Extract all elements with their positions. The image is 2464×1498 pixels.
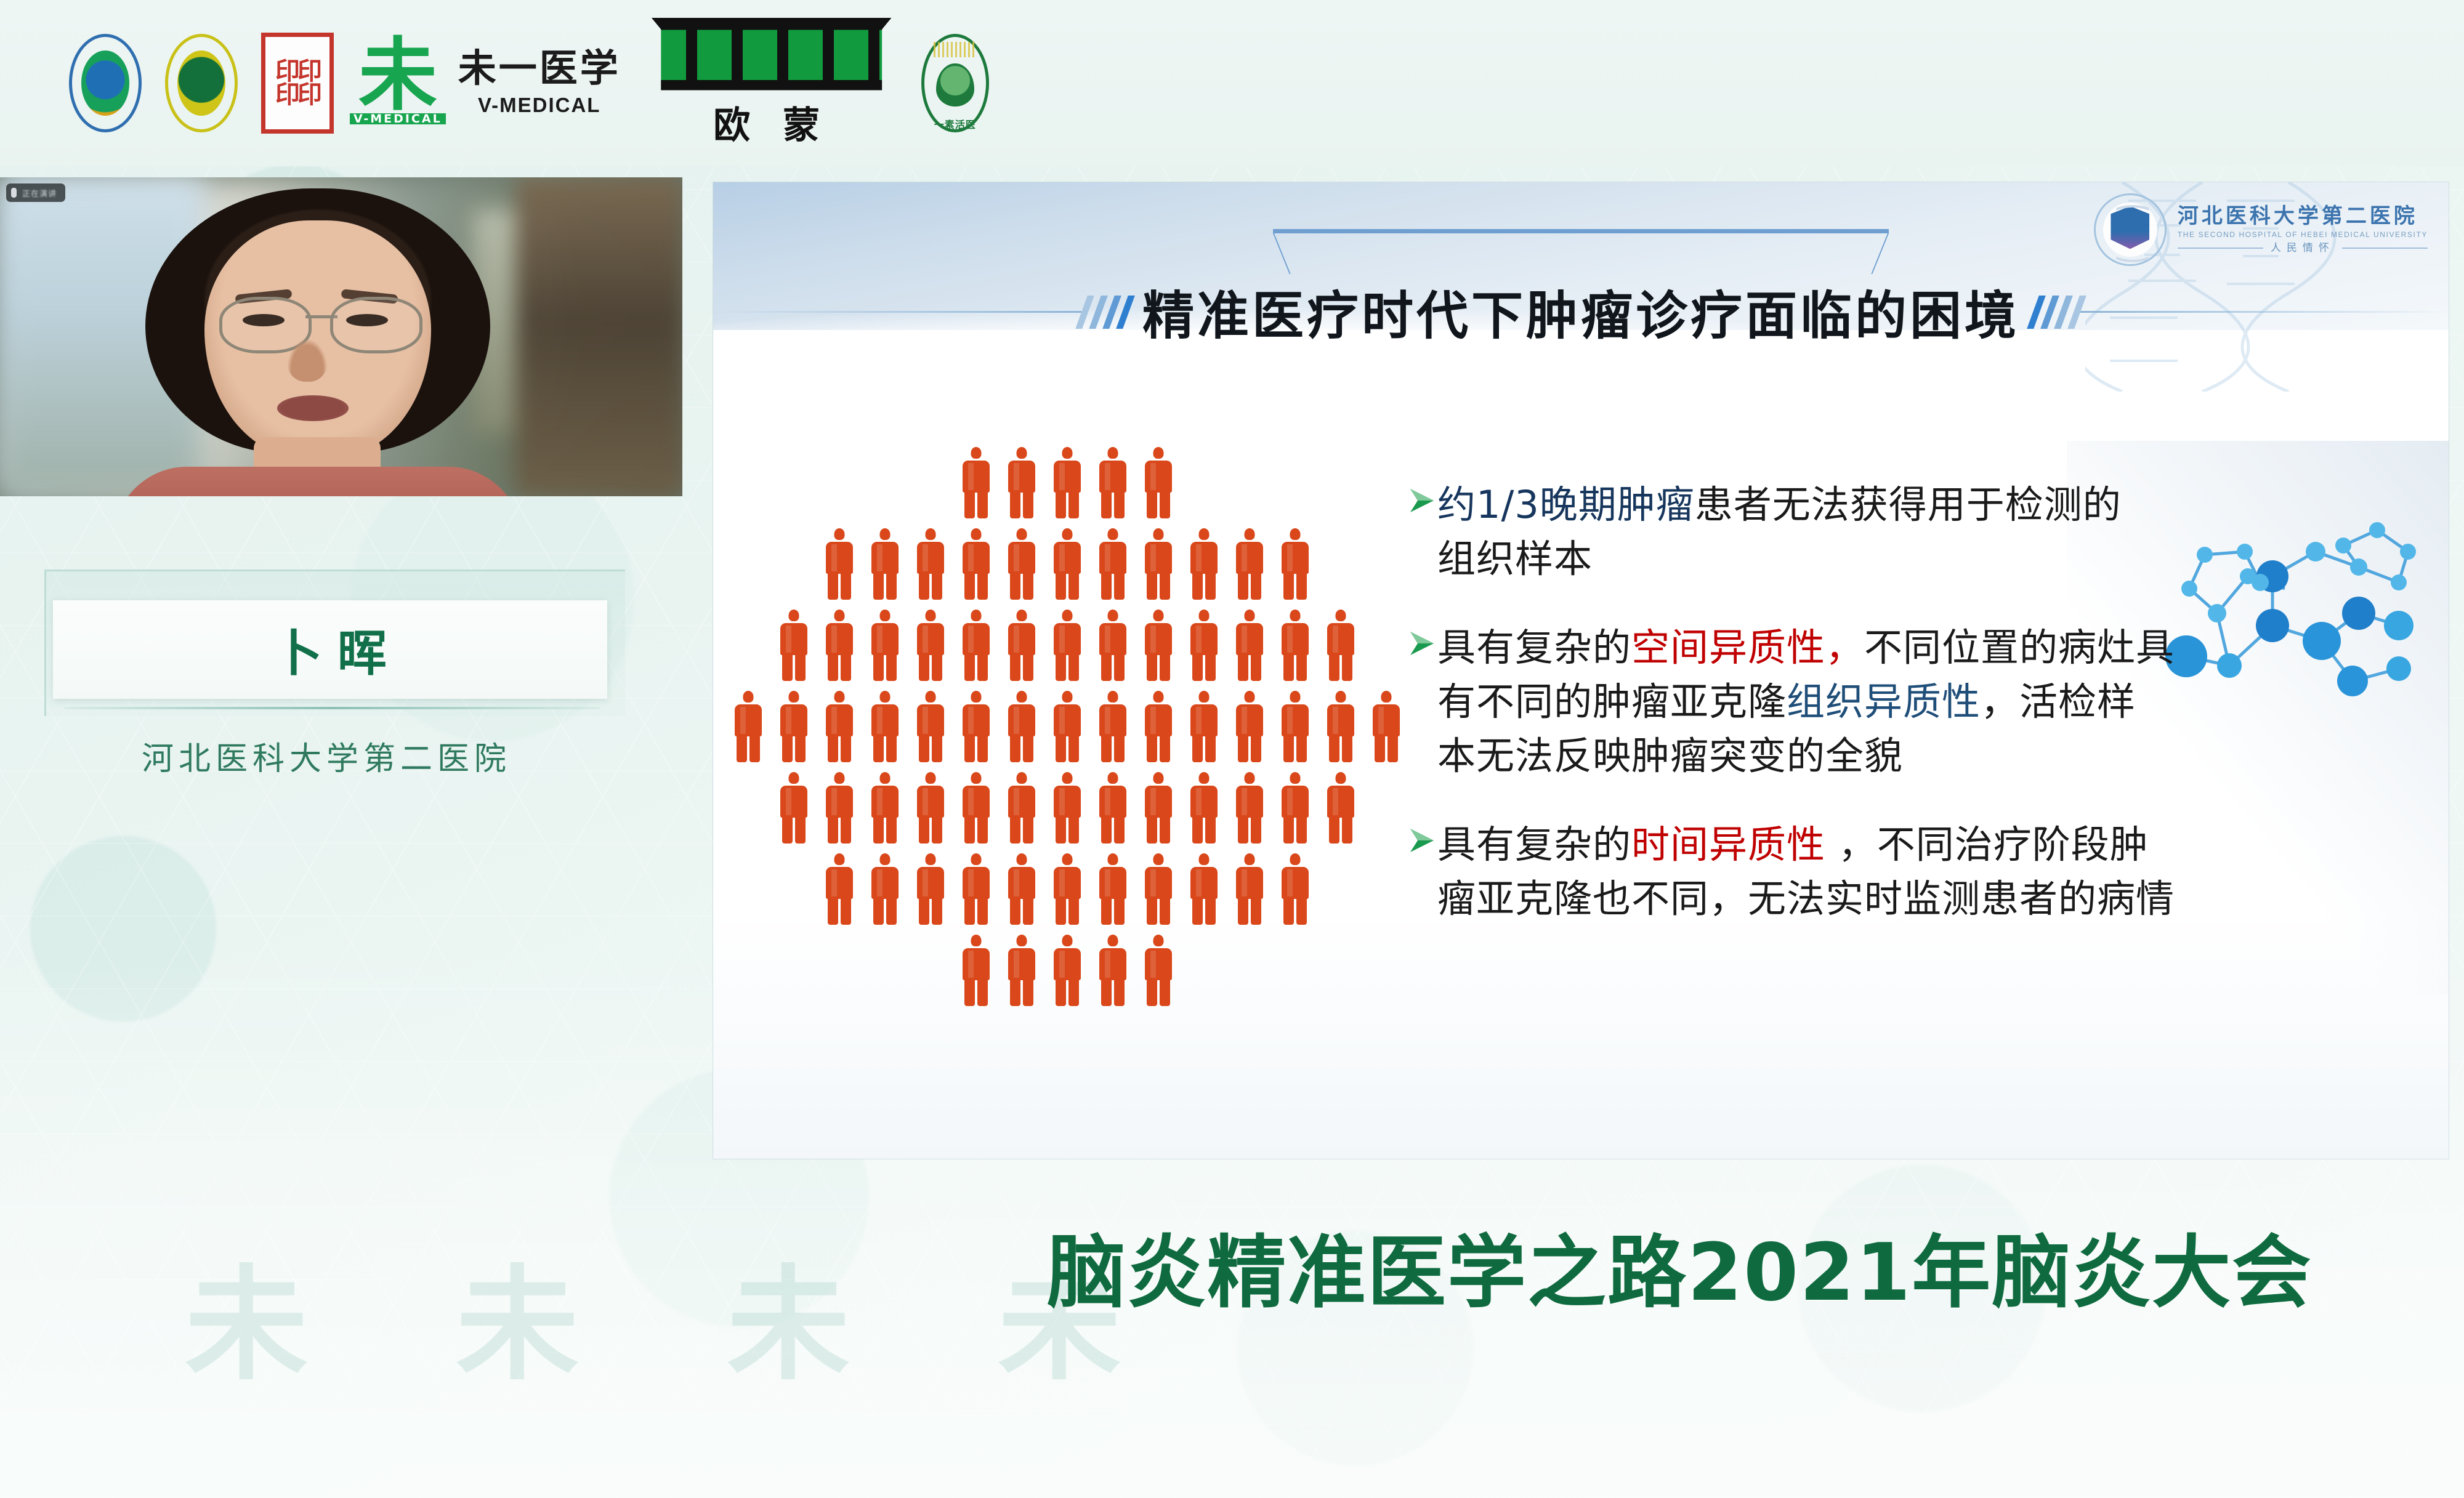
bullet-segment: 不同位置的病灶具 bbox=[1864, 625, 2175, 670]
bullet-line: 约1/3晚期肿瘤患者无法获得用于检测的 bbox=[1437, 478, 2122, 532]
person-icon bbox=[1099, 447, 1126, 518]
person-icon bbox=[963, 610, 990, 681]
gate-roof-icon bbox=[652, 18, 892, 91]
person-icon bbox=[871, 772, 899, 844]
speaker-portrait bbox=[145, 188, 490, 496]
title-rule-left bbox=[713, 311, 1081, 313]
pictogram-row bbox=[732, 853, 1403, 925]
bullet-segment: 瘤亚克隆也不同，无法实时监测患者的病情 bbox=[1437, 876, 2175, 921]
slide-title-row: 精准医疗时代下肿瘤诊疗面临的困境 bbox=[713, 275, 2449, 349]
bullet-item: 具有复杂的时间异质性 ，不同治疗阶段肿瘤亚克隆也不同，无法实时监测患者的病情 bbox=[1409, 818, 2431, 926]
person-icon bbox=[963, 447, 990, 518]
person-icon bbox=[1099, 772, 1126, 844]
nose bbox=[287, 339, 328, 382]
conference-banner: 脑炎精准医学之路2021年脑炎大会 bbox=[1047, 1204, 2457, 1327]
vmedical-en-label: V-MEDICAL bbox=[458, 94, 621, 117]
bullet-segment: 患者无法获得用于检测的 bbox=[1695, 482, 2122, 527]
logo-vmedical: 未 V-MEDICAL 未一医学 V-MEDICAL bbox=[350, 42, 621, 124]
person-icon bbox=[1054, 772, 1081, 844]
hospital-tagline: 人民情怀 bbox=[2271, 243, 2335, 254]
bullet-segment: ，不同治疗阶段肿 bbox=[1825, 822, 2149, 867]
person-icon bbox=[1145, 447, 1172, 518]
person-icon bbox=[826, 610, 853, 681]
speaker-video-panel[interactable]: 正在演讲 bbox=[0, 177, 682, 496]
person-icon bbox=[1099, 610, 1126, 681]
hospital-name-en: THE SECOND HOSPITAL OF HEBEI MEDICAL UNI… bbox=[2178, 231, 2428, 239]
hospital-tagline-row: 人民情怀 bbox=[2178, 243, 2428, 254]
bullet-line: 本无法反映肿瘤突变的全貌 bbox=[1437, 729, 2175, 783]
person-icon bbox=[780, 772, 807, 844]
person-icon bbox=[871, 528, 899, 600]
microphone-icon bbox=[11, 188, 17, 198]
title-rule-right bbox=[2080, 311, 2449, 313]
bullet-line: 具有复杂的空间异质性，不同位置的病灶具 bbox=[1437, 621, 2175, 675]
bullet-text: 具有复杂的时间异质性 ，不同治疗阶段肿瘤亚克隆也不同，无法实时监测患者的病情 bbox=[1437, 818, 2175, 926]
person-icon bbox=[1008, 772, 1035, 844]
title-slashes-right bbox=[2033, 296, 2080, 329]
circular-seal-icon bbox=[69, 34, 142, 132]
bullet-segment: 时间异质性 bbox=[1631, 822, 1825, 867]
person-icon bbox=[963, 772, 990, 844]
person-icon bbox=[1054, 447, 1081, 518]
logo-red-square-seal: 印印印印 bbox=[261, 33, 334, 134]
pictogram-row bbox=[732, 935, 1403, 1006]
person-icon bbox=[1054, 610, 1081, 681]
person-icon bbox=[963, 853, 990, 925]
slide-title: 精准医疗时代下肿瘤诊疗面临的困境 bbox=[1142, 275, 2019, 349]
logo-medical-association-seal bbox=[165, 34, 238, 132]
bullet-item: 约1/3晚期肿瘤患者无法获得用于检测的组织样本 bbox=[1409, 478, 2431, 586]
bullet-line: 瘤亚克隆也不同，无法实时监测患者的病情 bbox=[1437, 872, 2175, 926]
leaf-icon bbox=[936, 63, 974, 107]
person-icon bbox=[1236, 772, 1263, 844]
mouth bbox=[277, 395, 349, 421]
person-icon bbox=[826, 853, 853, 925]
person-icon bbox=[871, 691, 899, 762]
oumeng-label: 欧 蒙 bbox=[652, 95, 892, 149]
person-icon bbox=[1327, 691, 1354, 762]
name-card-underline bbox=[64, 707, 600, 709]
glasses-icon bbox=[219, 297, 422, 348]
person-icon bbox=[1327, 610, 1354, 681]
video-status-badge: 正在演讲 bbox=[6, 183, 65, 202]
bullet-segment: 约1/3晚期肿瘤 bbox=[1437, 482, 1695, 527]
person-icon bbox=[1190, 772, 1218, 844]
person-icon bbox=[1145, 935, 1172, 1006]
person-icon bbox=[1099, 691, 1126, 762]
person-icon bbox=[917, 853, 944, 925]
person-icon bbox=[1145, 528, 1172, 600]
person-icon bbox=[871, 853, 899, 925]
hospital-logo: 河北医科大学第二医院 THE SECOND HOSPITAL OF HEBEI … bbox=[2094, 193, 2428, 266]
wei-glyph-icon: 未 V-MEDICAL bbox=[350, 42, 446, 124]
title-bracket-decoration bbox=[1273, 229, 1889, 272]
bullet-line: 有不同的肿瘤亚克隆组织异质性，活检样 bbox=[1437, 675, 2175, 729]
person-icon bbox=[963, 935, 990, 1006]
person-icon bbox=[1054, 691, 1081, 762]
video-status-label: 正在演讲 bbox=[22, 187, 57, 199]
person-icon bbox=[1190, 853, 1218, 925]
bullet-line: 具有复杂的时间异质性 ，不同治疗阶段肿 bbox=[1437, 818, 2175, 872]
speaker-affiliation: 河北医科大学第二医院 bbox=[0, 733, 653, 779]
chevron-right-icon bbox=[1409, 818, 1437, 926]
chevron-right-icon bbox=[1409, 478, 1437, 586]
bullet-segment: 具有复杂的 bbox=[1437, 822, 1631, 867]
person-icon bbox=[735, 691, 762, 762]
circular-seal-icon bbox=[165, 34, 238, 132]
bullet-line: 组织样本 bbox=[1437, 532, 2122, 586]
title-slashes-left bbox=[1081, 296, 1129, 329]
speaker-name-card: 卜晖 bbox=[53, 600, 607, 699]
person-icon bbox=[780, 610, 807, 681]
person-icon bbox=[1327, 772, 1354, 844]
bullet-item: 具有复杂的空间异质性，不同位置的病灶具有不同的肿瘤亚克隆组织异质性，活检样本无法… bbox=[1409, 621, 2431, 783]
bullet-segment: 空间异质性， bbox=[1631, 625, 1864, 670]
speaker-name: 卜晖 bbox=[259, 614, 402, 685]
pictogram-row bbox=[732, 528, 1403, 600]
bullet-text: 具有复杂的空间异质性，不同位置的病灶具有不同的肿瘤亚克隆组织异质性，活检样本无法… bbox=[1437, 621, 2175, 783]
video-background-cabinet bbox=[516, 177, 682, 496]
person-icon bbox=[1008, 528, 1035, 600]
red-seal-icon: 印印印印 bbox=[261, 33, 334, 134]
bullet-segment: 具有复杂的 bbox=[1437, 625, 1631, 670]
page-root: 未 未 未 未 印印印印 未 V-MEDICAL 未一医学 V-MEDICAL bbox=[0, 0, 2464, 1498]
person-icon bbox=[963, 691, 990, 762]
person-icon bbox=[1008, 935, 1035, 1006]
person-icon bbox=[1236, 853, 1263, 925]
person-icon bbox=[917, 691, 944, 762]
person-icon bbox=[1145, 691, 1172, 762]
person-icon bbox=[1099, 853, 1126, 925]
person-icon bbox=[1236, 610, 1263, 681]
person-icon bbox=[1008, 610, 1035, 681]
person-icon bbox=[1282, 528, 1309, 600]
yiwei-label: 一素活医 bbox=[921, 116, 989, 131]
bullet-segment: 本无法反映肿瘤突变的全貌 bbox=[1437, 733, 1903, 778]
person-icon bbox=[1054, 853, 1081, 925]
person-icon bbox=[1099, 528, 1126, 600]
slide-bullet-list: 约1/3晚期肿瘤患者无法获得用于检测的组织样本具有复杂的空间异质性，不同位置的病… bbox=[1409, 478, 2431, 960]
pictogram-row bbox=[732, 772, 1403, 844]
bullet-text: 约1/3晚期肿瘤患者无法获得用于检测的组织样本 bbox=[1437, 478, 2122, 586]
person-icon bbox=[1190, 691, 1218, 762]
person-icon bbox=[1282, 772, 1309, 844]
logo-national-health-seal bbox=[69, 34, 142, 132]
person-icon bbox=[917, 610, 944, 681]
pictogram-row bbox=[732, 447, 1403, 518]
logo-oumeng: 欧 蒙 bbox=[652, 18, 892, 149]
people-pictogram bbox=[732, 447, 1403, 1069]
header-logo-strip: 印印印印 未 V-MEDICAL 未一医学 V-MEDICAL 欧 蒙 一素活医 bbox=[0, 0, 2464, 166]
person-icon bbox=[826, 772, 853, 844]
person-icon bbox=[1008, 447, 1035, 518]
person-icon bbox=[1099, 935, 1126, 1006]
pictogram-row bbox=[732, 691, 1403, 762]
person-icon bbox=[963, 528, 990, 600]
person-icon bbox=[826, 528, 853, 600]
logo-yiwei-leaf-seal: 一素活医 bbox=[921, 34, 989, 132]
person-icon bbox=[917, 772, 944, 844]
person-icon bbox=[1373, 691, 1400, 762]
person-icon bbox=[1282, 853, 1309, 925]
person-icon bbox=[1054, 935, 1081, 1006]
person-icon bbox=[1054, 528, 1081, 600]
person-icon bbox=[1008, 691, 1035, 762]
person-icon bbox=[1190, 528, 1218, 600]
person-icon bbox=[1236, 528, 1263, 600]
bullet-segment: ，活检样 bbox=[1981, 679, 2136, 724]
person-icon bbox=[917, 528, 944, 600]
bullet-segment: 组织样本 bbox=[1437, 536, 1593, 581]
pictogram-row bbox=[732, 610, 1403, 681]
person-icon bbox=[1190, 610, 1218, 681]
vmedical-cn-label: 未一医学 bbox=[458, 49, 621, 87]
presentation-slide[interactable]: 河北医科大学第二医院 THE SECOND HOSPITAL OF HEBEI … bbox=[713, 182, 2449, 1159]
hospital-name-cn: 河北医科大学第二医院 bbox=[2178, 205, 2428, 228]
chevron-right-icon bbox=[1409, 621, 1437, 783]
person-icon bbox=[1145, 772, 1172, 844]
person-icon bbox=[1145, 610, 1172, 681]
person-icon bbox=[871, 610, 899, 681]
bullet-segment: 组织异质性 bbox=[1787, 679, 1981, 724]
person-icon bbox=[1282, 610, 1309, 681]
conference-banner-text: 脑炎精准医学之路2021年脑炎大会 bbox=[1047, 1209, 2312, 1323]
person-icon bbox=[780, 691, 807, 762]
person-icon bbox=[1282, 691, 1309, 762]
person-icon bbox=[1145, 853, 1172, 925]
bullet-segment: 有不同的肿瘤亚克隆 bbox=[1437, 679, 1787, 724]
hospital-crest-icon bbox=[2094, 193, 2167, 266]
person-icon bbox=[826, 691, 853, 762]
person-icon bbox=[1236, 691, 1263, 762]
vmedical-glyph-sub: V-MEDICAL bbox=[350, 113, 446, 124]
person-icon bbox=[1008, 853, 1035, 925]
